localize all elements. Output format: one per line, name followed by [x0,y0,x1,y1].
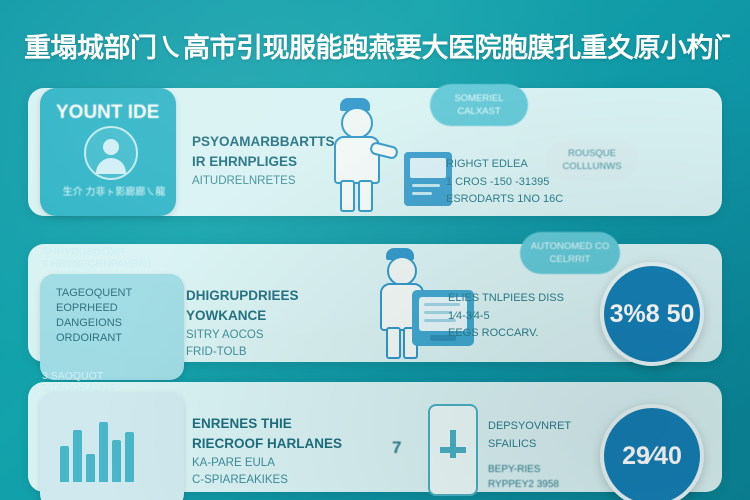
row-3-heading: ENRENES THIE RIECROOF HARLANES [192,414,382,455]
row-1-chip-title: YOUNT IDE [56,100,159,126]
row-2-subtext: SITRY AOCOS FRID-TOLB [186,327,376,363]
row-3-text-block: ENRENES THIE RIECROOF HARLANES KA-PARE E… [192,414,382,490]
callout-bubble-2-text: ROUSQUE COLLLUNWS [546,140,638,180]
row-3-subtext: KA-PARE EULA C-SPIAREAKIKES [192,455,382,491]
doctor2-head-icon [387,256,417,286]
doctor-leg-left-icon [340,180,355,212]
doctor-leg-right-icon [358,180,373,212]
row-1-chip[interactable]: YOUNT IDE 生介 力非ㇳ影廊廊㇏龍 [40,88,176,216]
stat-bubble-2: 29⁄40 [600,404,704,500]
plus-horizontal [440,447,466,453]
doctor2-leg-left-icon [386,327,401,359]
row-2-text-block: DHIGRUPDRIEES YOWKANCE SITRY AOCOS FRID-… [186,286,376,362]
doctor-figure-1-icon [322,98,402,210]
infographic-poster: 重塌城部门㇏高市引现服能跑燕要大医院胞膜孔重夊原小杓门院 YOUNT IDE 生… [0,0,750,500]
bar-3 [86,454,95,482]
desk-line-a [412,184,440,187]
row-3-kicker: 3 SAOQUOT 5ITAQGRALNS [42,370,115,394]
page-title: 重塌城部门㇏高市引现服能跑燕要大医院胞膜孔重夊原小杓门院 [24,26,730,74]
row-2-heading: DHIGRUPDRIEES YOWKANCE [186,286,376,327]
row-3-bottom-caption: BEPY-RIES RYPPEY2 3958 [488,462,598,492]
plus-number-label: 7 [392,438,401,458]
callout-bubble-2: ROUSQUE COLLLUNWS [546,140,638,180]
desk-line-b [412,192,432,195]
callout-bubble-1-text: SOMERIEL CALXAST [430,84,528,126]
bar-5 [112,440,121,482]
row-2-right-text: ELIES TNLPIEES DISS 1⁄4-3⁄4-5 EEGS ROCCA… [448,290,594,343]
row-2-chip[interactable]: TAGEOQUENT EOPRHEED DANGEIONS ORDOIRANT [40,274,184,380]
doctor-head-icon [341,107,373,139]
avatar [84,126,138,180]
desk-computer-icon [404,152,452,206]
callout-bubble-3: AUTONOMED CO CELRRIT [520,232,620,274]
row-2-kicker: SHRYRGBDONIT 9 HRYNPGRNPAHRNT [42,246,153,270]
callout-bubble-1: SOMERIEL CALXAST [430,84,528,126]
avatar-head [103,139,119,155]
bar-6 [125,432,134,482]
avatar-body [96,158,126,174]
medical-plus-card-icon [428,404,478,496]
bar-2 [73,430,82,482]
desk-screen-icon [410,158,446,178]
bar-4 [99,422,108,482]
bar-1 [60,446,69,482]
callout-bubble-3-text: AUTONOMED CO CELRRIT [520,232,620,274]
row-2-chip-text: TAGEOQUENT EOPRHEED DANGEIONS ORDOIRANT [50,282,174,345]
bar-chart-icon [60,412,146,482]
row-1-chip-subtitle: 生介 力非ㇳ影廊廊㇏龍 [54,186,174,200]
stat-bubble-1: 3%8 50 [600,262,704,366]
plus-vertical [450,430,456,458]
